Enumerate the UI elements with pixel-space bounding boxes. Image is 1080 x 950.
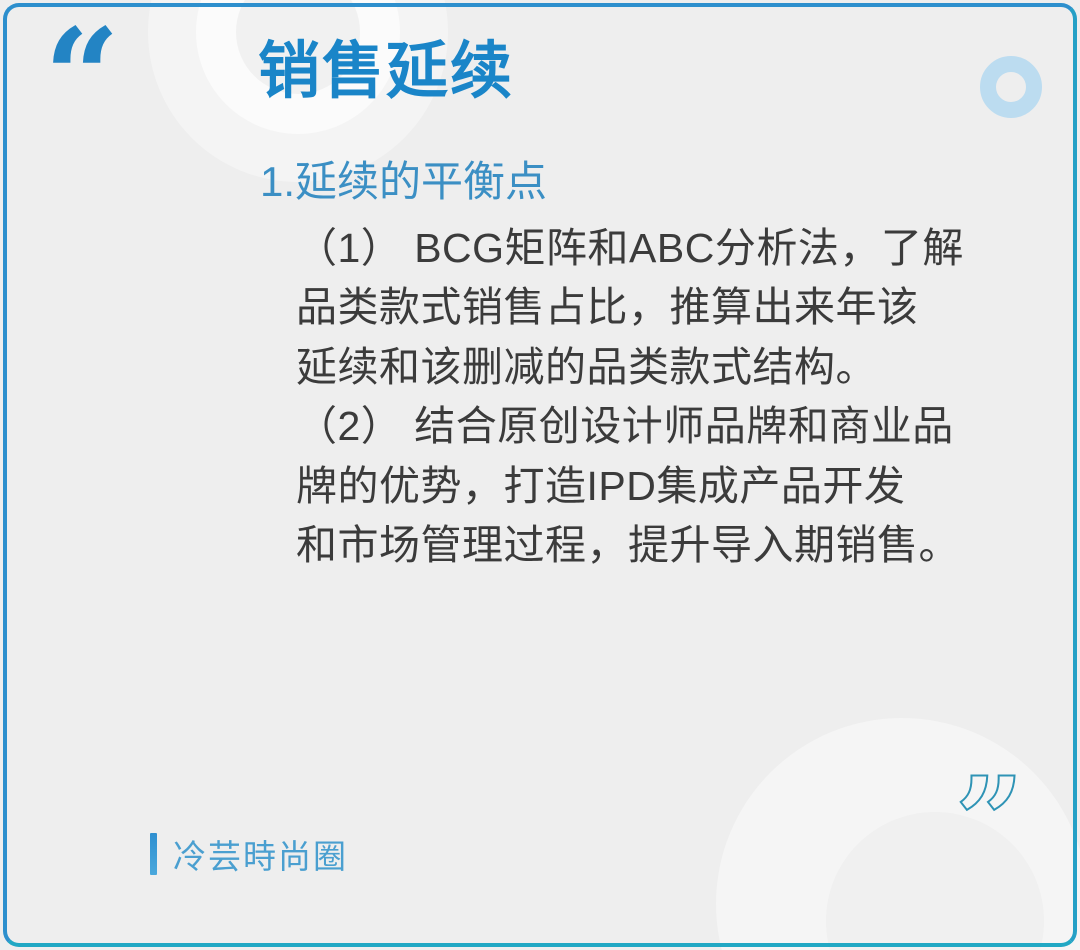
body-line: （1） BCG矩阵和ABC分析法，了解: [296, 219, 1006, 278]
quote-open-icon: “: [44, 12, 118, 144]
body-line: 牌的优势，打造IPD集成产品开发: [296, 457, 1006, 516]
body-line: 品类款式销售占比，推算出来年该: [296, 278, 1006, 337]
body-line: （2） 结合原创设计师品牌和商业品: [296, 397, 1006, 456]
slide-canvas: “ 销售延续 1.延续的平衡点 （1） BCG矩阵和ABC分析法，了解 品类款式…: [0, 0, 1080, 950]
logo-accent-bar: [150, 833, 157, 875]
footer-brand-logo: 冷芸時尚圈: [150, 830, 348, 878]
body-line: 延续和该删减的品类款式结构。: [296, 338, 1006, 397]
decor-circle-bottom-right-outer: [716, 718, 1080, 950]
page-title: 销售延续: [258, 36, 514, 107]
body-line: 和市场管理过程，提升导入期销售。: [296, 516, 1006, 575]
section-subheading: 1.延续的平衡点: [260, 157, 547, 207]
body-text-block: （1） BCG矩阵和ABC分析法，了解 品类款式销售占比，推算出来年该 延续和该…: [296, 219, 1006, 576]
quote-close-icon: ”: [955, 762, 1023, 882]
brand-name: 冷芸時尚圈: [173, 830, 348, 878]
circle-ring-icon: [980, 56, 1042, 118]
